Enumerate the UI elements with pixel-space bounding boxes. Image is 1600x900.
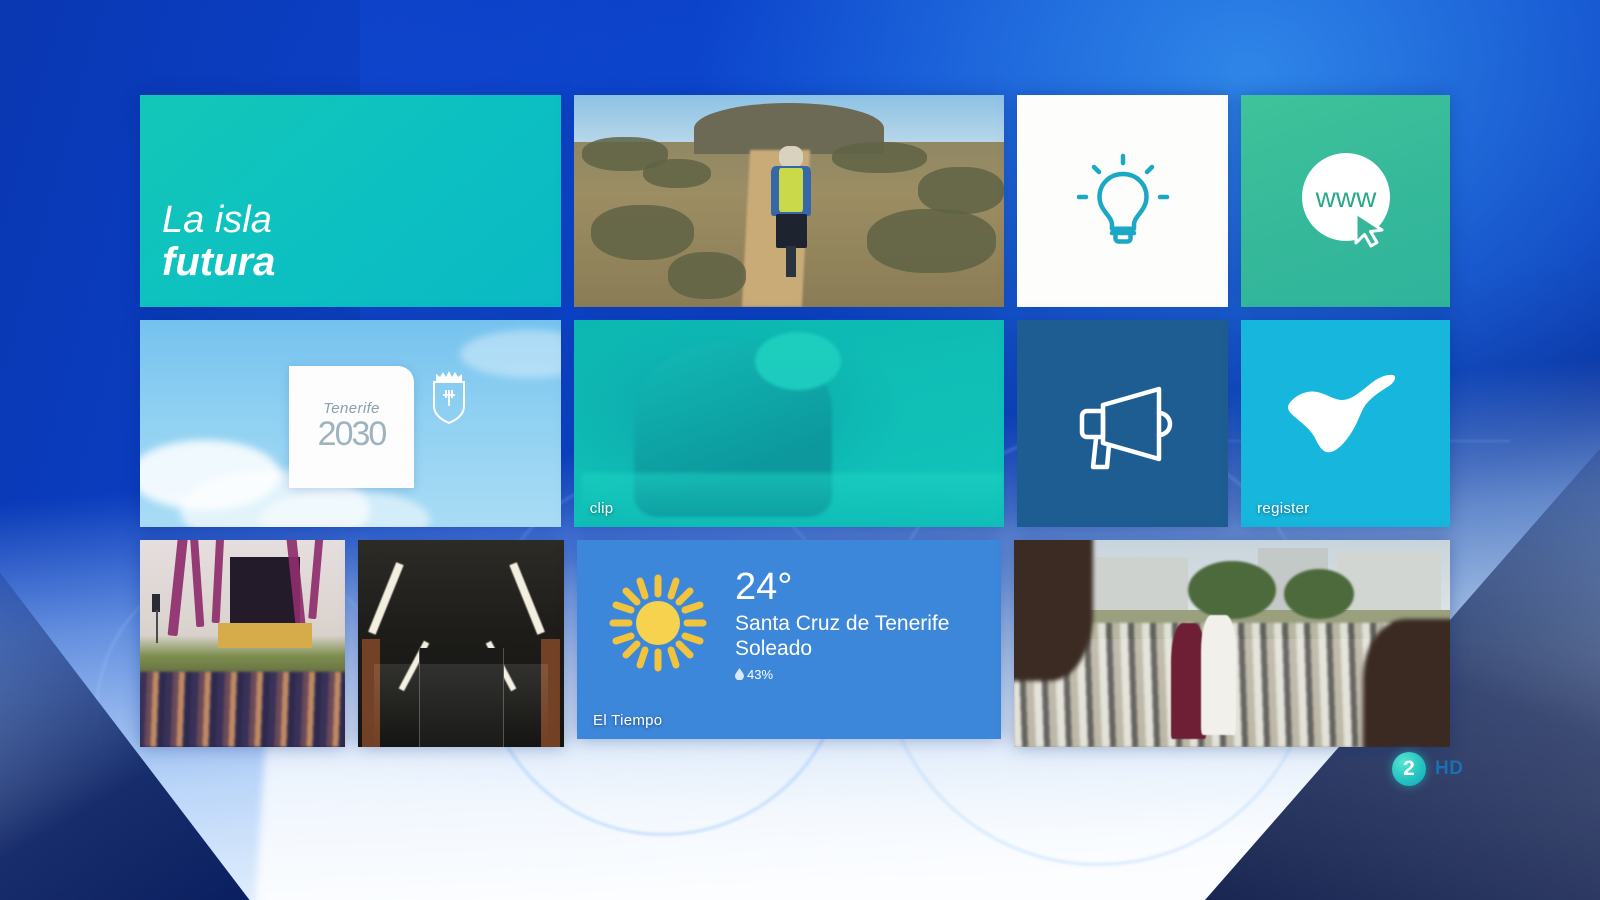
lightbulb-icon (1063, 140, 1183, 262)
tile-row-1: La isla futura (140, 95, 1450, 307)
tile-tenerife-2030[interactable]: Tenerife 2030 (140, 320, 561, 527)
tile-auditorium-photo[interactable] (140, 540, 345, 747)
droplet-icon (735, 668, 744, 680)
tile-tram-interior-photo[interactable] (358, 540, 565, 747)
tile-trail-runner[interactable] (574, 95, 1005, 307)
sun-icon (599, 568, 717, 678)
tenerife-island-icon (1281, 368, 1401, 464)
tile-idea-lightbulb[interactable] (1017, 95, 1228, 307)
runner-figure (770, 146, 813, 277)
tenerife-year-text: 2030 (318, 415, 386, 454)
clip-photo (574, 320, 1005, 527)
weather-humidity: 43% (735, 667, 949, 682)
weather-city: Santa Cruz de Tenerife (735, 612, 949, 637)
tenerife-2030-logo-card: Tenerife 2030 (289, 366, 414, 488)
channel-hd-label: HD (1435, 758, 1463, 780)
title-line-2: futura (162, 241, 275, 283)
www-cursor-icon: www (1286, 141, 1406, 261)
channel-logo: 2 HD (1392, 752, 1463, 786)
www-text: www (1314, 182, 1376, 213)
tile-grid: La isla futura (140, 95, 1450, 760)
tile-la-isla-futura[interactable]: La isla futura (140, 95, 561, 307)
channel-number-badge: 2 (1392, 752, 1426, 786)
tile-row-3: 24° Santa Cruz de Tenerife Soleado 43% E… (140, 540, 1450, 747)
tile-announcements[interactable] (1017, 320, 1228, 527)
register-label: register (1257, 500, 1309, 517)
weather-condition: Soleado (735, 637, 949, 662)
trail-runner-photo (574, 95, 1005, 307)
la-isla-futura-title: La isla futura (162, 200, 275, 283)
clip-label: clip (590, 500, 614, 517)
tile-outdoor-crowd-photo[interactable] (1014, 540, 1450, 747)
tile-clip-video[interactable]: clip (574, 320, 1005, 527)
weather-footer-label: El Tiempo (593, 712, 662, 729)
weather-temperature: 24° (735, 568, 949, 606)
megaphone-icon (1063, 369, 1183, 479)
cabildo-coat-of-arms-icon (429, 368, 469, 426)
title-line-1: La isla (162, 200, 275, 240)
tile-weather-widget[interactable]: 24° Santa Cruz de Tenerife Soleado 43% E… (577, 540, 1001, 739)
weather-humidity-value: 43% (747, 667, 773, 682)
tile-web-www[interactable]: www (1241, 95, 1450, 307)
tile-row-2: Tenerife 2030 clip (140, 320, 1450, 527)
tile-register-island[interactable]: register (1241, 320, 1450, 527)
